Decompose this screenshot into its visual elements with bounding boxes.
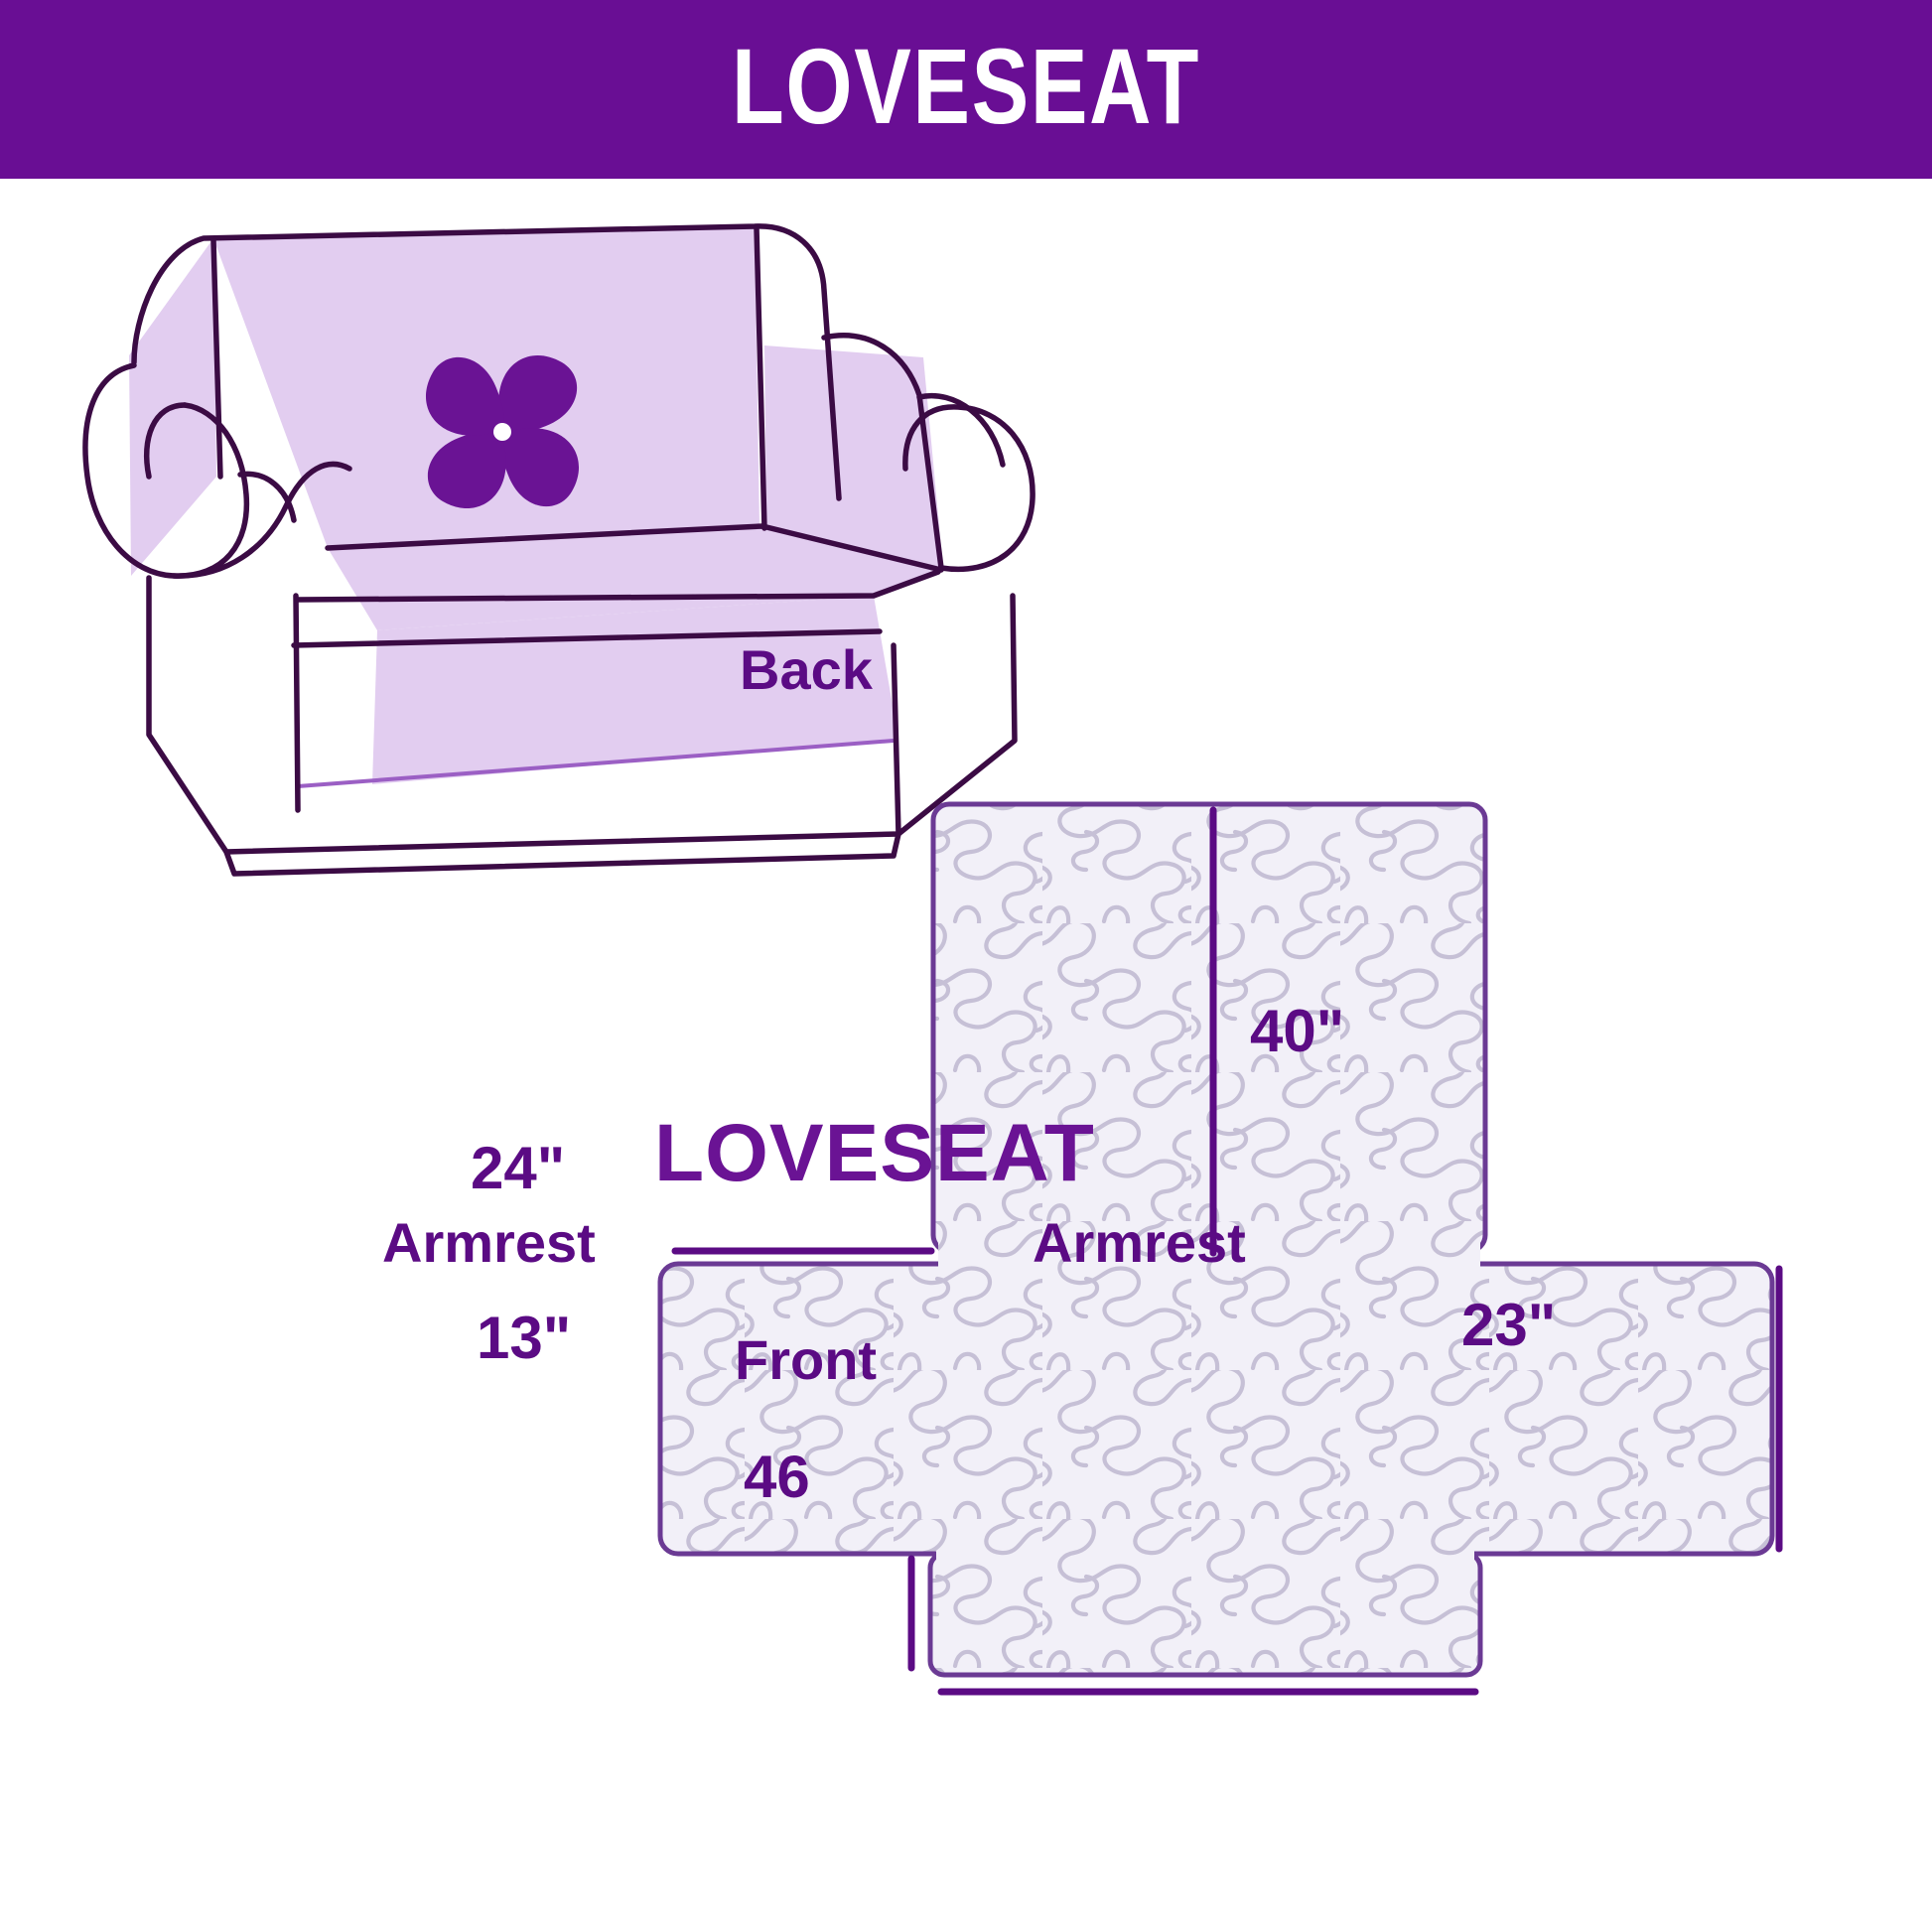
pattern-center-label: LOVESEAT [654, 1113, 1095, 1194]
dimension-value-front-width: 46 [744, 1448, 810, 1507]
dimension-value-back-height: 40" [1250, 1002, 1344, 1061]
panel-label-armrest-left: Armrest [382, 1215, 596, 1271]
diagram-stage: .qfill{fill:url(#quilt);stroke:#6B3A94;s… [0, 179, 1932, 1932]
dimension-value-back-offset: 24" [471, 1139, 565, 1198]
dimension-value-armrest-depth: 23" [1461, 1296, 1556, 1355]
diagram-artwork: .qfill{fill:url(#quilt);stroke:#6B3A94;s… [0, 179, 1932, 1932]
panel-label-armrest-right: Armrest [1033, 1215, 1246, 1271]
panel-label-front: Front [735, 1332, 877, 1388]
page-title: LOVESEAT [732, 33, 1200, 140]
loveseat-illustration [85, 226, 1033, 874]
panel-label-back: Back [740, 642, 873, 698]
dimension-value-front-height: 13" [477, 1309, 571, 1368]
header-banner: LOVESEAT [0, 0, 1932, 179]
